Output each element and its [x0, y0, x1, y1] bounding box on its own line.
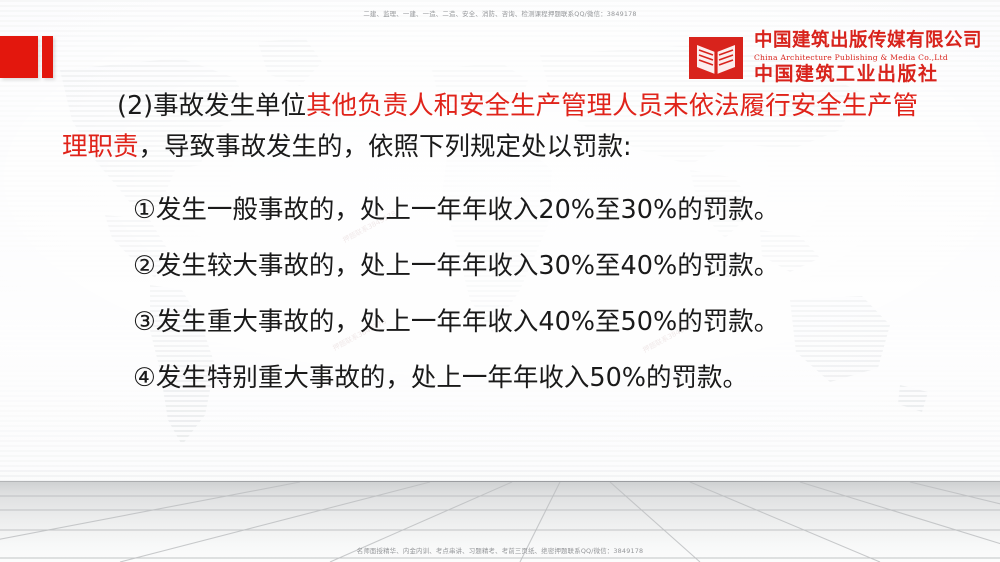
publisher-press-cn: 中国建筑工业出版社: [754, 65, 982, 84]
watermark-bottom: 名师面授精华、内金内训、考点串讲、习题精考、考前三页纸、绝密押题联系QQ/微信：…: [0, 546, 1000, 555]
publisher-company-cn: 中国建筑出版传媒有限公司: [754, 32, 982, 51]
presentation-slide: 中国建筑出版传媒有限公司 China Architecture Publishi…: [0, 0, 1000, 562]
publisher-company-en: China Architecture Publishing & Media Co…: [754, 54, 982, 62]
list-item: ④发生特别重大事故的，处上一年年收入50%的罚款。: [133, 366, 748, 392]
heading-line-1-emphasis: 其他负责人和安全生产管理人员未依法履行安全生产管: [306, 91, 918, 121]
watermark-top: 二建、监理、一建、一造、二造、安全、消防、咨询、检测课程押题联系QQ/微信：38…: [0, 9, 1000, 18]
red-bar-accent: [42, 36, 53, 78]
heading-line-2: 理职责，导致事故发生的，依照下列规定处以罚款:: [62, 135, 632, 161]
list-item: ①发生一般事故的，处上一年年收入20%至30%的罚款。: [133, 198, 779, 224]
red-square-accent: [0, 36, 38, 78]
heading-line-1-prefix: (2)事故发生单位: [117, 91, 306, 121]
heading-line-2-emphasis: 理职责: [62, 132, 139, 162]
heading-line-2-rest: ，导致事故发生的，依照下列规定处以罚款:: [139, 132, 632, 162]
list-item: ②发生较大事故的，处上一年年收入30%至40%的罚款。: [133, 254, 779, 280]
list-item: ③发生重大事故的，处上一年年收入40%至50%的罚款。: [133, 310, 779, 336]
heading-line-1: (2)事故发生单位其他负责人和安全生产管理人员未依法履行安全生产管: [117, 94, 918, 120]
open-book-logo-icon: [688, 34, 744, 82]
publisher-logo-text: 中国建筑出版传媒有限公司 China Architecture Publishi…: [754, 32, 982, 84]
publisher-logo: 中国建筑出版传媒有限公司 China Architecture Publishi…: [688, 32, 982, 84]
